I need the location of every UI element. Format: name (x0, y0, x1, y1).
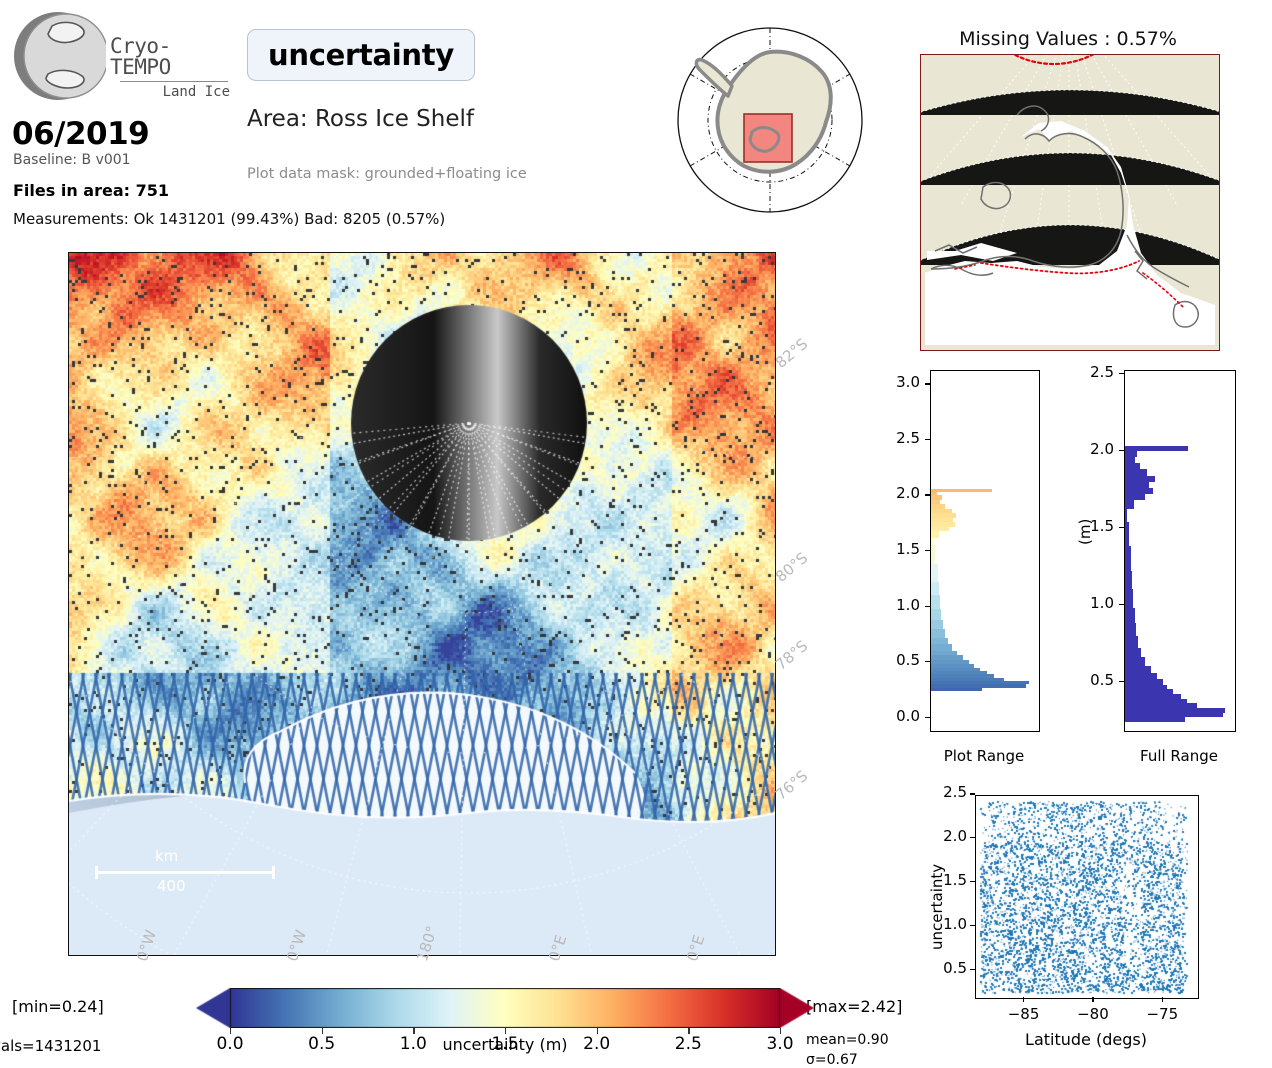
histogram-bar (931, 609, 941, 620)
axis-tick-label: 1.0 (874, 596, 920, 614)
histogram-bar (931, 582, 939, 595)
axis-tick-label: 1.5 (874, 540, 920, 558)
histogram-bar (1125, 546, 1131, 571)
scatter-x-label: Latitude (degs) (975, 1030, 1197, 1049)
histogram-bar (1125, 494, 1145, 500)
parameter-badge: uncertainty (247, 29, 475, 81)
axis-tick-label: −75 (1137, 1005, 1187, 1023)
baseline-label: Baseline: B v001 (13, 152, 131, 168)
histogram-bar (1125, 679, 1163, 685)
axis-tick-label: 0.0 (874, 707, 920, 725)
histogram-bar (1125, 703, 1197, 708)
full-range-caption: Full Range (1124, 747, 1234, 765)
histogram-bar (931, 684, 1026, 687)
histogram-bar (1125, 636, 1138, 648)
histogram-bar (1125, 500, 1134, 509)
histogram-bar (1125, 648, 1141, 657)
histogram-bar (931, 531, 939, 538)
colorbar-nvals-label: vals=1431201 (0, 1037, 101, 1055)
histogram-bar (931, 668, 980, 671)
axis-tick (970, 969, 975, 970)
histogram-bar (931, 489, 992, 492)
histogram-bar (1125, 482, 1149, 488)
axis-tick (1092, 997, 1093, 1002)
axis-tick (1119, 527, 1124, 528)
axis-tick (970, 881, 975, 882)
histogram-bar (931, 522, 955, 526)
histogram-bar (931, 492, 937, 495)
histogram-bar (931, 688, 982, 691)
map-latitude-label: 80°S (772, 549, 811, 586)
axis-tick-label: 0.5 (1068, 671, 1114, 689)
histogram-bar (1125, 509, 1127, 521)
histogram-bar (931, 513, 956, 517)
axis-tick-label: −85 (999, 1005, 1049, 1023)
axis-tick (1119, 450, 1124, 451)
axis-tick (925, 606, 930, 607)
axis-tick (925, 661, 930, 662)
map-latitude-label: 76°S (772, 767, 811, 804)
missing-values-map (920, 54, 1220, 351)
axis-tick (970, 793, 975, 794)
histogram-bar (1125, 694, 1181, 699)
axis-tick (925, 494, 930, 495)
main-map[interactable]: km 400 (68, 252, 776, 956)
histogram-bar (931, 671, 987, 674)
plot-data-mask-label: Plot data mask: grounded+floating ice (247, 166, 527, 182)
axis-tick (1023, 997, 1024, 1002)
histogram-bar (931, 651, 957, 655)
axis-tick (925, 439, 930, 440)
histogram-bar (1125, 571, 1132, 589)
axis-tick (1119, 604, 1124, 605)
map-latitude-label: 82°S (772, 335, 811, 372)
axis-tick (1162, 997, 1163, 1002)
histogram-bar (1125, 673, 1157, 679)
axis-tick (1119, 373, 1124, 374)
globe-ice-icon (10, 8, 106, 104)
histogram-bar (931, 527, 949, 531)
histogram-bar (1125, 713, 1223, 718)
histogram-bar (1125, 657, 1145, 666)
histogram-bar (931, 547, 935, 565)
plot-range-histogram (930, 370, 1040, 732)
axis-tick (1119, 681, 1124, 682)
axis-tick-label: 1.0 (1068, 594, 1114, 612)
histogram-bar (931, 500, 940, 504)
plot-range-caption: Plot Range (930, 747, 1038, 765)
histogram-bar (1125, 666, 1151, 672)
scale-unit: km (155, 847, 178, 865)
histogram-bar (931, 564, 938, 582)
map-latitude-label: 78°S (772, 637, 811, 674)
missing-values-title: Missing Values : 0.57% (918, 28, 1218, 50)
axis-tick-label: −80 (1068, 1005, 1118, 1023)
histogram-bar (1125, 522, 1129, 547)
uncertainty-vs-latitude-scatter (975, 795, 1199, 999)
axis-tick-label: 2.5 (874, 429, 920, 447)
logo-title: Cryo-TEMPO (110, 36, 230, 78)
histogram-bar (1125, 451, 1137, 457)
axis-tick (925, 383, 930, 384)
histogram-bar (931, 674, 994, 677)
histogram-bar (931, 595, 940, 608)
histogram-bar (931, 538, 933, 547)
histogram-bar (931, 655, 963, 659)
colorbar-min-label: [min=0.24] (12, 997, 104, 1016)
histogram-bar (931, 504, 945, 508)
histogram-bar (1125, 463, 1140, 469)
axis-tick (970, 925, 975, 926)
antarctica-locator-icon (672, 22, 868, 218)
histogram-bar (931, 644, 952, 651)
histogram-bar (1125, 699, 1187, 704)
logo-text: Cryo-TEMPO Land Ice (110, 36, 230, 99)
logo-block: Cryo-TEMPO Land Ice (10, 8, 225, 103)
axis-tick-label: 3.0 (874, 373, 920, 391)
histogram-bar (1125, 476, 1155, 482)
histogram-bar (931, 660, 969, 664)
histogram-bar (931, 678, 1004, 681)
axis-tick-label: 2.0 (923, 827, 967, 845)
axis-tick (925, 717, 930, 718)
axis-tick (970, 837, 975, 838)
histogram-bar (931, 509, 952, 513)
colorbar[interactable]: 0.00.51.01.52.02.53.0 (175, 988, 835, 1028)
scatter-y-label: uncertainty (928, 864, 946, 950)
colorbar-sigma-label: σ=0.67 (806, 1052, 858, 1068)
area-label: Area: Ross Ice Shelf (247, 106, 474, 132)
histogram-bar (1125, 717, 1185, 722)
histogram-bar (931, 495, 942, 499)
date-label: 06/2019 (12, 116, 149, 152)
histogram-bar (931, 620, 943, 629)
histogram-bar (1125, 446, 1188, 451)
histogram-bar (1125, 623, 1136, 635)
axis-tick-label: 0.5 (923, 959, 967, 977)
logo-divider (120, 81, 228, 82)
histogram-bar (1125, 685, 1167, 690)
scale-value: 400 (157, 877, 186, 895)
histogram-bar (931, 518, 953, 522)
map-scale-bar: km 400 (95, 871, 275, 874)
full-range-y-label: (m) (1076, 519, 1094, 545)
measurements-label: Measurements: Ok 1431201 (99.43%) Bad: 8… (13, 210, 445, 228)
histogram-bar (1125, 488, 1153, 494)
histogram-bar (1125, 469, 1147, 475)
axis-tick-label: 2.0 (874, 484, 920, 502)
histogram-bar (931, 629, 945, 638)
files-in-area-label: Files in area: 751 (13, 181, 169, 200)
histogram-bar (931, 681, 1029, 684)
histogram-bar (931, 664, 974, 667)
histogram-bar (1125, 689, 1173, 694)
histogram-bar (1125, 589, 1133, 607)
axis-tick-label: 2.5 (1068, 363, 1114, 381)
histogram-bar (1125, 608, 1135, 623)
axis-tick-label: 0.5 (874, 651, 920, 669)
axis-tick-label: 2.5 (923, 783, 967, 801)
histogram-bar (1125, 708, 1225, 713)
logo-subtitle: Land Ice (110, 85, 230, 99)
histogram-bar (931, 638, 948, 645)
axis-tick-label: 2.0 (1068, 440, 1114, 458)
axis-tick (925, 550, 930, 551)
histogram-bar (1125, 457, 1135, 463)
full-range-histogram (1124, 370, 1236, 732)
colorbar-axis-label: uncertainty (m) (175, 1035, 835, 1054)
